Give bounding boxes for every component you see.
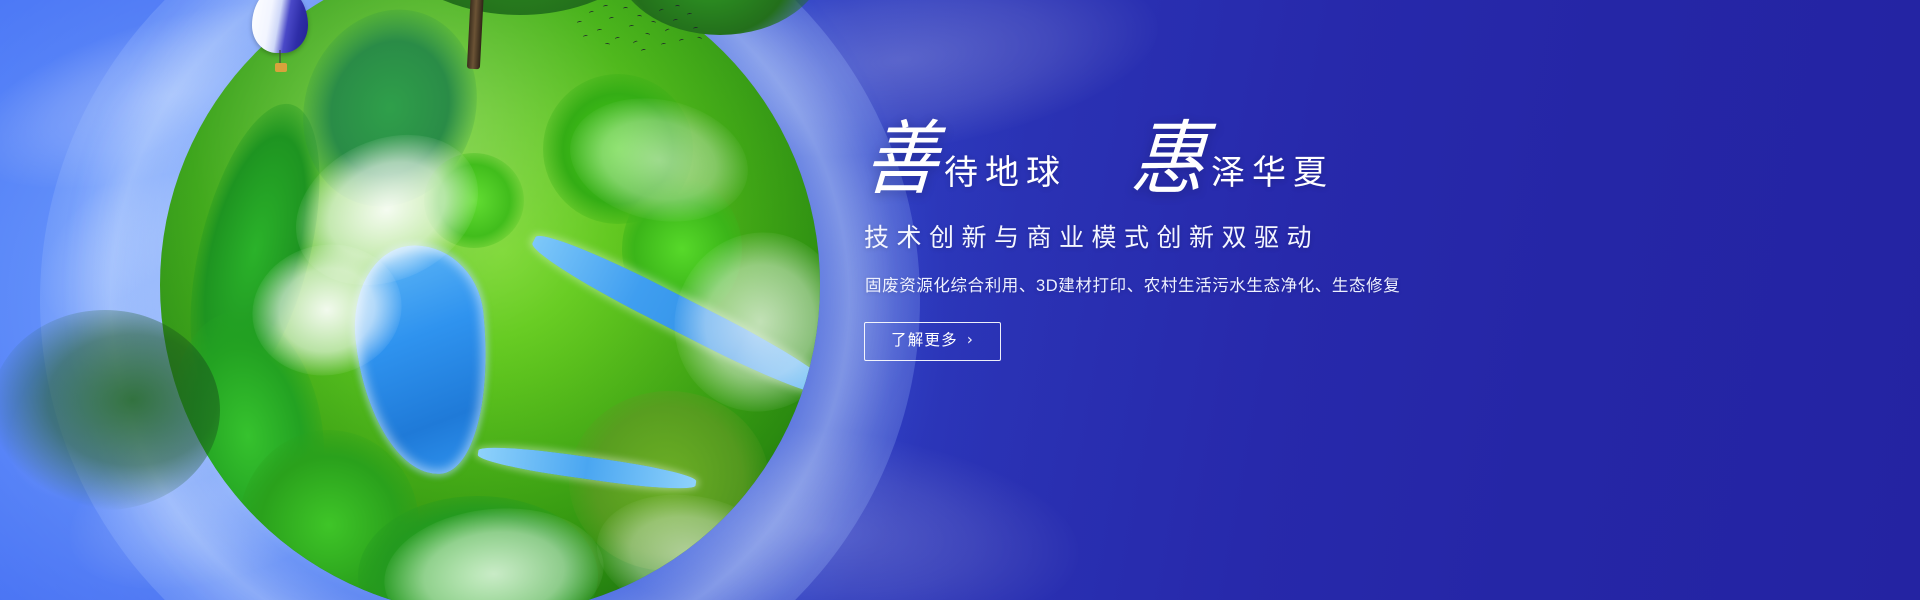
bird-flock-icon (575, 3, 705, 55)
bird-icon (641, 48, 647, 52)
hero-description: 固废资源化综合利用、3D建材打印、农村生活污水生态净化、生态修复 (865, 272, 1562, 296)
cloud-icon (559, 83, 760, 238)
hero-banner: 善 待地球 惠 泽华夏 技术创新与商业模式创新双驱动 固废资源化综合利用、3D建… (0, 0, 1920, 600)
bird-icon (629, 25, 634, 29)
hero-tagline: 技术创新与商业模式创新双驱动 (864, 218, 1562, 254)
bird-icon (597, 29, 602, 33)
bird-icon (665, 28, 671, 33)
bird-icon (637, 15, 642, 18)
cloud-icon (651, 210, 820, 434)
hot-air-balloon-icon (252, 0, 308, 75)
learn-more-label: 了解更多 (891, 333, 958, 349)
page-title: 善 待地球 惠 泽华夏 (862, 128, 1562, 200)
headline-char-shan: 善 (862, 119, 947, 200)
chevron-right-icon: › (967, 333, 974, 348)
bird-icon (661, 43, 666, 47)
headline-zehuaxia: 泽华夏 (1207, 157, 1334, 200)
bird-icon (623, 7, 628, 10)
tiny-planet-globe-image (160, 0, 820, 600)
bird-icon (589, 10, 595, 14)
bird-icon (651, 21, 657, 25)
cloud-icon (378, 498, 610, 600)
hero-content: 善 待地球 惠 泽华夏 技术创新与商业模式创新双驱动 固废资源化综合利用、3D建… (862, 128, 1562, 361)
bird-icon (673, 18, 679, 22)
balloon-basket (275, 63, 287, 72)
headline-daidiqiu: 待地球 (940, 157, 1067, 200)
bird-icon (659, 8, 665, 13)
tree-icon (0, 310, 220, 510)
balloon-envelope (252, 0, 308, 53)
cloud-icon (587, 481, 795, 600)
bird-icon (577, 21, 582, 25)
bird-icon (645, 32, 651, 36)
bird-icon (583, 34, 589, 38)
bird-icon (615, 36, 621, 40)
bird-icon (675, 5, 680, 8)
learn-more-button[interactable]: 了解更多 › (864, 322, 1001, 361)
bird-icon (605, 43, 610, 46)
bird-icon (693, 27, 698, 31)
bird-icon (697, 36, 703, 40)
bird-icon (603, 5, 608, 9)
river-icon (476, 441, 697, 493)
globe-sphere (160, 0, 820, 600)
bird-icon (609, 17, 615, 21)
bird-icon (633, 40, 639, 45)
bird-icon (679, 38, 685, 42)
headline-char-hui: 惠 (1129, 119, 1214, 200)
bird-icon (687, 13, 692, 17)
